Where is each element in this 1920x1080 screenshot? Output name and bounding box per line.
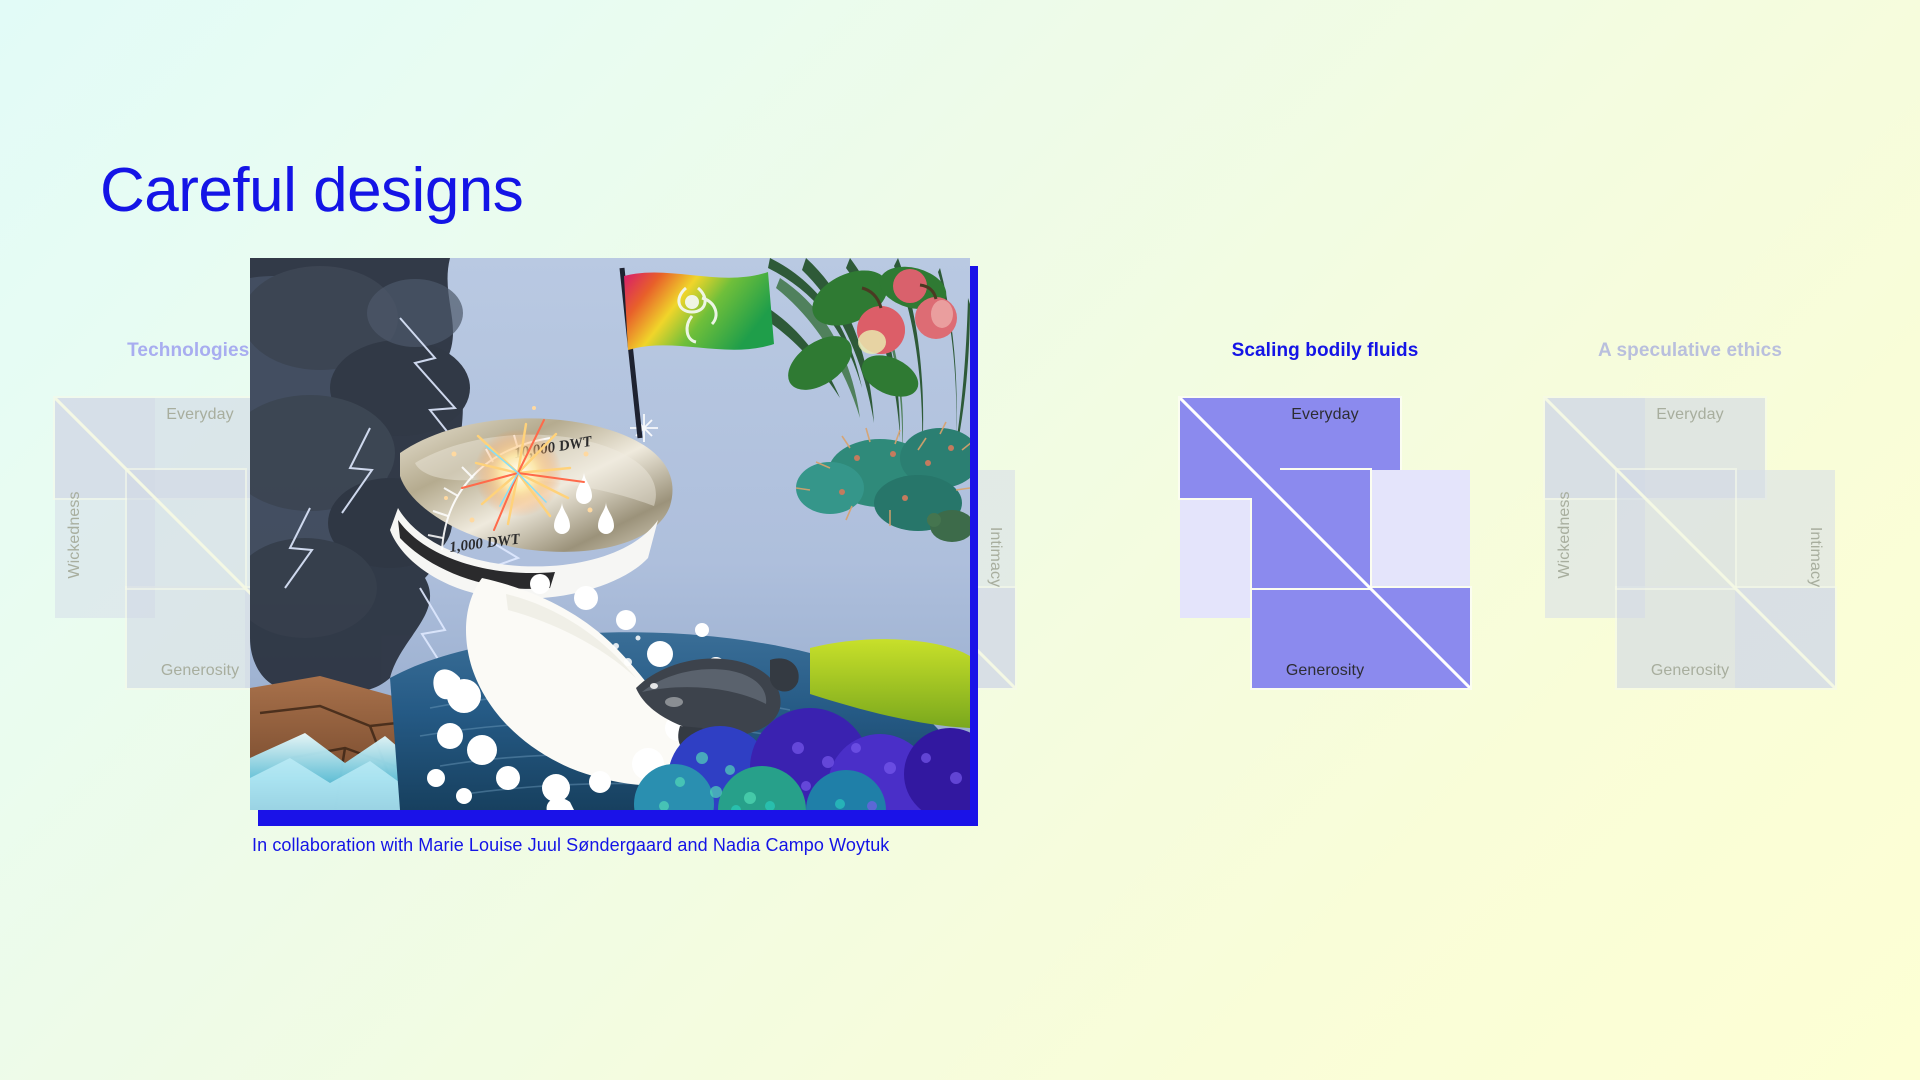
quadrant-label-intimacy: Intimacy [986,467,1004,647]
column-scaling-bodily-fluids[interactable]: Scaling bodily fluids Everyday Generosit… [1160,340,1490,760]
column-title-a-speculative-ethics[interactable]: A speculative ethics [1525,340,1855,362]
quadrant-label-everyday: Everyday [1180,406,1470,424]
quadrant-label-intimacy: Intimacy [1806,467,1824,647]
overlay-caption: In collaboration with Marie Louise Juul … [252,835,889,856]
page-title: Careful designs [100,160,523,222]
quadrant-diagram-5: Everyday Wickedness Intimacy Generosity [1545,398,1835,688]
column-a-speculative-ethics[interactable]: A speculative ethics Everyday Wickedness… [1525,340,1855,760]
quadrant-center [127,470,245,588]
quadrant-label-generosity: Generosity [1545,662,1835,680]
quadrant-label-wickedness: Wickedness [66,445,84,625]
quadrant-center [1617,470,1735,588]
collage-artwork: 10,000 DWT 1,000 DWT [250,258,970,810]
quadrant-label-generosity: Generosity [1180,662,1470,680]
quadrant-center [1252,470,1370,588]
overlay-image-card[interactable]: 10,000 DWT 1,000 DWT [250,258,970,818]
column-title-scaling-bodily-fluids[interactable]: Scaling bodily fluids [1160,340,1490,362]
quadrant-label-everyday: Everyday [1545,406,1835,424]
quadrant-diagram-4: Everyday Generosity [1180,398,1470,688]
quadrant-label-wickedness: Wickedness [1556,445,1574,625]
collage-image[interactable]: 10,000 DWT 1,000 DWT [250,258,970,810]
